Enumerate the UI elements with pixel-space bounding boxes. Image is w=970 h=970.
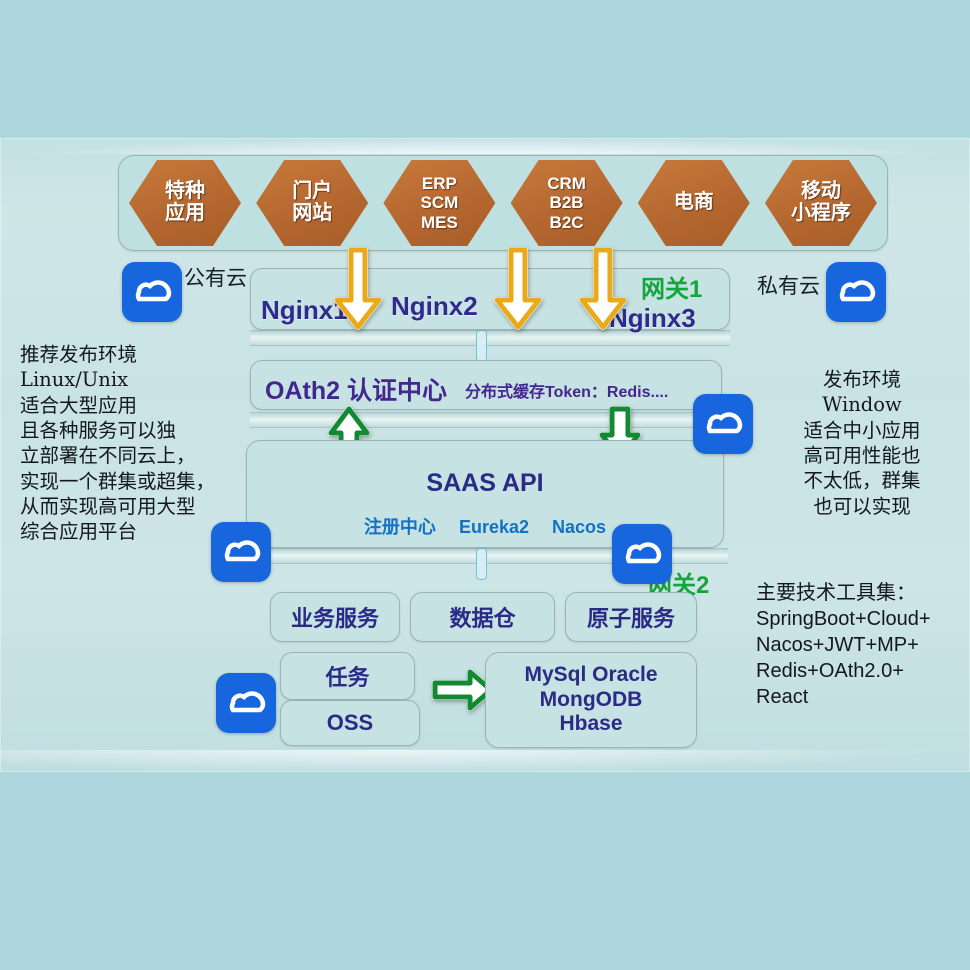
shelf-auth: [250, 412, 728, 428]
app-hex-label: ERP SCM MES: [420, 174, 458, 231]
oauth2-title: OAth2 认证中心: [265, 371, 447, 407]
public-cloud-label: 公有云: [184, 262, 247, 292]
service-box-atomic[interactable]: 原子服务: [565, 592, 697, 642]
service-box-business[interactable]: 业务服务: [270, 592, 400, 642]
service-label: 数据仓: [449, 601, 515, 633]
app-hex-erp[interactable]: ERP SCM MES: [383, 160, 495, 246]
app-hex-label: 电商: [674, 192, 714, 214]
nginx2-label[interactable]: Nginx2: [391, 291, 478, 322]
arrow-down-yellow-1: [333, 248, 383, 335]
connector-nginx-auth: [476, 330, 487, 362]
app-hex-special[interactable]: 特种 应用: [129, 160, 241, 246]
left-note: 推荐发布环境 Linux/Unix 适合大型应用 且各种服务可以独 立部署在不同…: [20, 342, 245, 545]
gateway1-badge: 网关1: [641, 269, 702, 304]
database-label: MongODB: [540, 688, 643, 713]
nacos-label: Nacos: [552, 517, 606, 537]
service-label: 业务服务: [291, 601, 379, 633]
registry-label: 注册中心: [364, 517, 436, 537]
cloud-icon-auth: [693, 394, 753, 454]
cloud-icon-storage: [216, 673, 276, 733]
arrow-down-yellow-2: [493, 248, 543, 335]
gateway1-layer: Nginx1 Nginx2 Nginx3 网关1: [250, 268, 730, 330]
app-hex-ecommerce[interactable]: 电商: [638, 160, 750, 246]
app-hex-label: 门户 网站: [292, 181, 332, 224]
app-hex-label: 移动 小程序: [791, 181, 851, 224]
database-box[interactable]: MySql Oracle MongODB Hbase: [485, 652, 697, 748]
cloud-icon-public: [122, 262, 182, 322]
eureka-label: Eureka2: [459, 517, 529, 537]
app-hex-mobile[interactable]: 移动 小程序: [765, 160, 877, 246]
connector-saas-services: [476, 548, 487, 580]
service-label: 原子服务: [587, 601, 675, 633]
cloud-icon-private: [826, 262, 886, 322]
oss-box[interactable]: OSS: [280, 700, 420, 746]
app-hex-crm[interactable]: CRM B2B B2C: [511, 160, 623, 246]
auth-layer: OAth2 认证中心 分布式缓存Token：Redis....: [250, 360, 722, 410]
app-hex-label: CRM B2B B2C: [547, 174, 586, 231]
database-label: Hbase: [559, 712, 622, 737]
saas-api-title: SAAS API: [247, 469, 723, 498]
database-label: MySql Oracle: [524, 663, 657, 688]
app-hex-label: 特种 应用: [165, 181, 205, 224]
diagram-canvas: 特种 应用 门户 网站 ERP SCM MES CRM B2B B2C 电商 移…: [0, 0, 970, 970]
app-hex-portal[interactable]: 门户 网站: [256, 160, 368, 246]
right-note-environment: 发布环境 Window 适合中小应用 高可用性能也 不太低，群集 也可以实现: [762, 367, 962, 519]
arrow-down-yellow-3: [578, 248, 628, 335]
oss-label: OSS: [327, 710, 373, 736]
task-label: 任务: [325, 660, 369, 692]
application-layer: 特种 应用 门户 网站 ERP SCM MES CRM B2B B2C 电商 移…: [118, 155, 888, 251]
cloud-icon-gateway2: [612, 524, 672, 584]
token-cache-label: 分布式缓存Token：Redis....: [465, 378, 668, 402]
private-cloud-label: 私有云: [757, 270, 820, 300]
task-box[interactable]: 任务: [280, 652, 415, 700]
right-note-tech-stack: 主要技术工具集： SpringBoot+Cloud+ Nacos+JWT+MP+…: [756, 580, 970, 710]
service-box-datawarehouse[interactable]: 数据仓: [410, 592, 555, 642]
